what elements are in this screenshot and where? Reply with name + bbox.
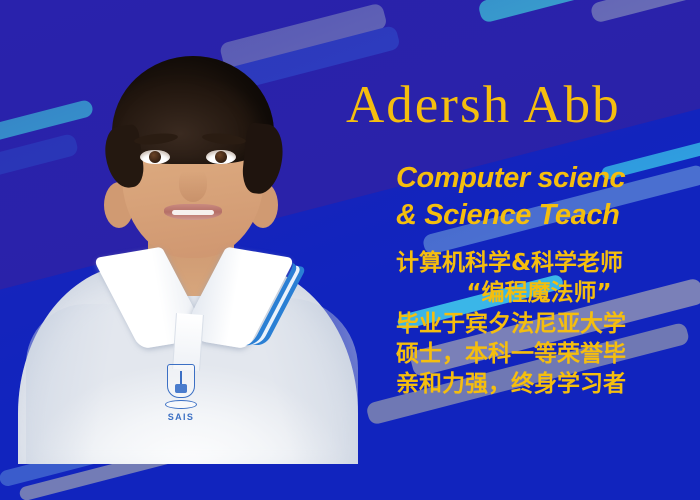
text-column: Adersh Abb Computer scienc & Science Tea…	[378, 78, 700, 400]
nose	[179, 168, 207, 202]
role-line-2: & Science Teach	[396, 197, 700, 234]
role-line-1: Computer scienc	[396, 160, 700, 197]
chinese-line-5: 亲和力强，终身学习者	[396, 369, 700, 399]
person-name: Adersh Abb	[346, 78, 700, 134]
mouth	[164, 204, 222, 220]
chinese-line-3: 毕业于宾夕法尼亚大学	[396, 309, 700, 339]
eye-left	[140, 150, 170, 164]
hair	[112, 56, 274, 164]
shirt-collar	[120, 252, 262, 348]
shirt-placket	[172, 313, 204, 371]
person-role: Computer scienc & Science Teach	[396, 160, 700, 234]
poster-canvas: SAIS Adersh Abb Computer scienc & Scienc…	[0, 0, 700, 500]
chinese-line-2: “编程魔法师”	[396, 278, 682, 308]
sais-school-crest: SAIS	[164, 364, 198, 422]
eye-right	[206, 150, 236, 164]
crest-base-icon	[165, 400, 197, 409]
chinese-line-4: 硕士，本科一等荣誉毕	[396, 339, 700, 369]
crest-shield-icon	[167, 364, 195, 398]
chinese-line-1: 计算机科学&科学老师	[396, 248, 700, 278]
portrait-photo: SAIS	[16, 0, 360, 464]
chinese-description: 计算机科学&科学老师 “编程魔法师” 毕业于宾夕法尼亚大学 硕士，本科一等荣誉毕…	[396, 248, 700, 400]
crest-label: SAIS	[164, 412, 198, 422]
